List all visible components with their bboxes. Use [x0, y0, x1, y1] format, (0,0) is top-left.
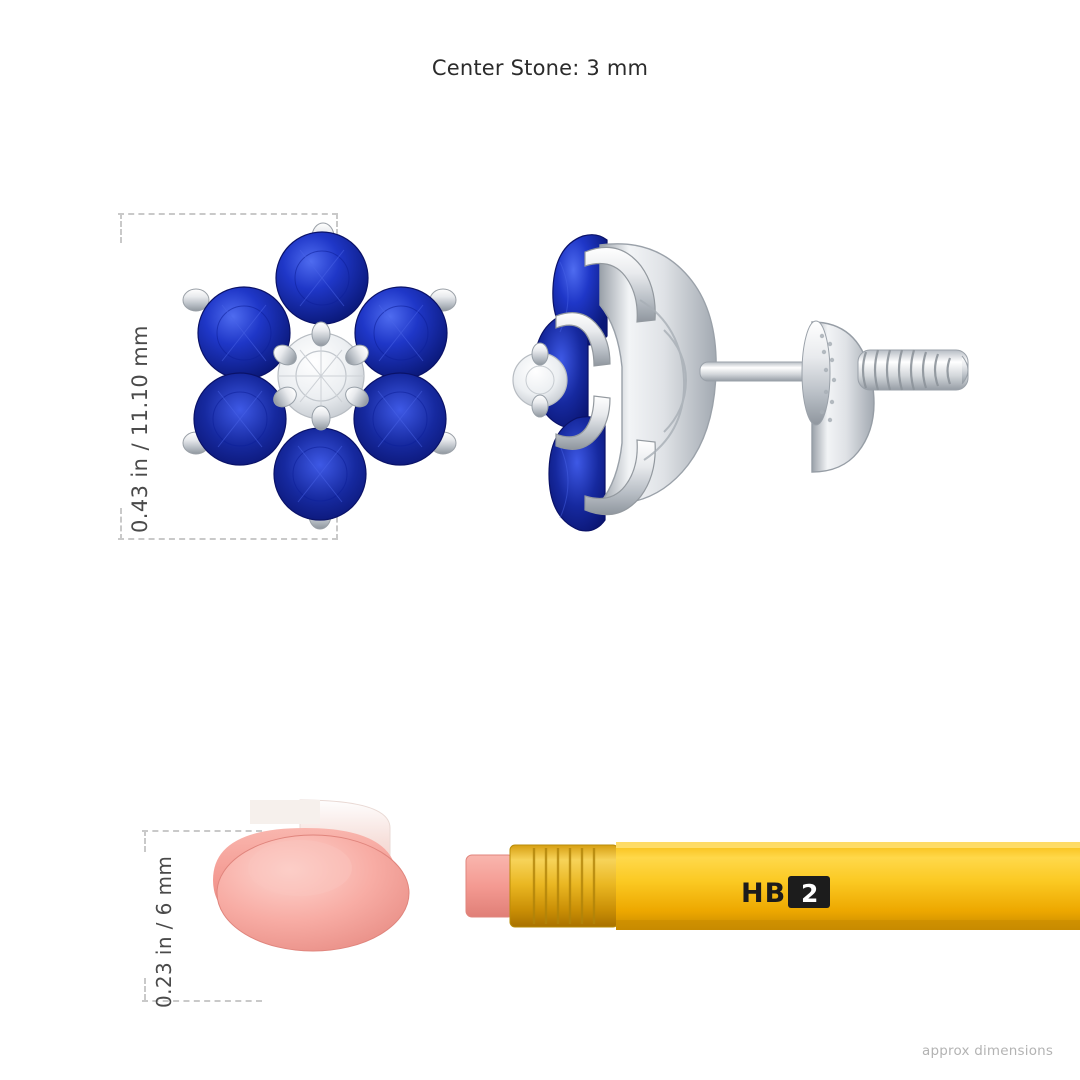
earring-bottom-guide [118, 538, 338, 540]
flower-cluster-side [513, 235, 968, 531]
earring-height-label: 0.43 in / 11.10 mm [128, 325, 152, 533]
earring-right-guide-top [336, 213, 338, 243]
center-stone-caption: Center Stone: 3 mm [0, 56, 1080, 80]
pencil-number-label: 2 [801, 879, 818, 908]
pencil-eraser-end [213, 800, 409, 951]
pencil-height-label: 0.23 in / 6 mm [152, 856, 176, 1008]
flower-cluster-front [183, 223, 456, 529]
earring-left-guide-bottom [120, 508, 122, 540]
pencil-left-guide-top [144, 830, 146, 852]
earring-top-guide [118, 213, 338, 215]
approx-dimensions-note: approx dimensions [922, 1043, 1053, 1059]
earring-left-guide-top [120, 213, 122, 243]
pencil-grade-label: HB [741, 878, 786, 909]
screw-back [802, 321, 968, 472]
earring-right-guide-bottom [336, 508, 338, 540]
pencil-left-guide-bottom [144, 978, 146, 1000]
pencil-top-guide [142, 830, 262, 832]
